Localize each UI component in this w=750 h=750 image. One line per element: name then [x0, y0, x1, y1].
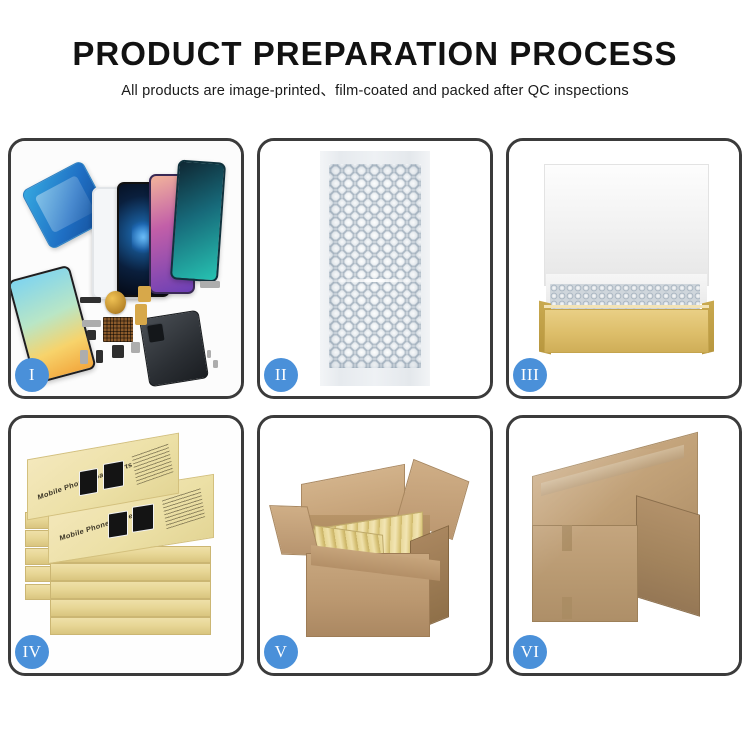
- sealed-carton-illustration: [509, 418, 739, 673]
- step-badge-3: III: [513, 358, 547, 392]
- process-step-panel-2: II: [257, 138, 493, 399]
- bracket-part-icon: [82, 320, 100, 328]
- flex-cable-part-icon: [138, 286, 152, 301]
- stacked-box-side-icon: [50, 563, 211, 581]
- step-badge-5: V: [264, 635, 298, 669]
- step-badge-2: II: [264, 358, 298, 392]
- process-step-panel-6: VI: [506, 415, 742, 676]
- process-step-panel-3: III: [506, 138, 742, 399]
- bubble-wrap-illustration: [260, 141, 490, 396]
- screw-part-icon: [131, 342, 140, 352]
- speaker-part-icon: [80, 297, 101, 303]
- carton-side-panel-icon: [636, 495, 700, 617]
- carton-front-panel-icon: [532, 525, 638, 622]
- camera-part-icon: [87, 330, 96, 340]
- box-open-lid-icon: [544, 164, 710, 286]
- wireless-coil-part-icon: [105, 291, 126, 314]
- carton-tape-tab-icon: [562, 597, 572, 620]
- inner-box-illustration: [509, 141, 739, 396]
- process-step-grid: I II III: [8, 138, 742, 676]
- process-step-panel-4: Mobile Phone Spare Parts Mobile Phone Sp…: [8, 415, 244, 676]
- process-step-panel-1: I: [8, 138, 244, 399]
- screw-part-icon: [213, 360, 218, 368]
- process-step-panel-5: V: [257, 415, 493, 676]
- step-badge-4: IV: [15, 635, 49, 669]
- box-stack: Mobile Phone Spare Parts Mobile Phone Sp…: [11, 418, 241, 673]
- stacked-box-side-icon: [50, 581, 211, 599]
- product-preparation-infographic: PRODUCT PREPARATION PROCESS All products…: [0, 0, 750, 750]
- page-subtitle: All products are image-printed、film-coat…: [0, 81, 750, 101]
- film-seam-icon: [324, 279, 425, 282]
- bubble-pattern-overlay-icon: [329, 164, 421, 368]
- box-artwork-screen-icon: [132, 503, 153, 532]
- step-badge-6: VI: [513, 635, 547, 669]
- phone-back-housing-icon: [139, 310, 209, 387]
- phone-parts-illustration: [11, 141, 241, 396]
- stacked-box-side-icon: [50, 617, 211, 635]
- box-artwork-screen-icon: [79, 468, 98, 496]
- box-spec-text-lines-icon: [132, 443, 174, 484]
- metal-shield-part-icon: [200, 281, 221, 287]
- page-title: PRODUCT PREPARATION PROCESS: [0, 34, 750, 74]
- step-badge-1: I: [15, 358, 49, 392]
- flex-cable-part-icon: [135, 304, 147, 324]
- button-part-icon: [112, 345, 124, 358]
- header: PRODUCT PREPARATION PROCESS All products…: [0, 0, 750, 101]
- phone-teal-screen-icon: [170, 160, 227, 283]
- stacked-box-side-icon: [50, 599, 211, 617]
- carton-tape-tab-icon: [562, 525, 572, 551]
- stacked-boxes-illustration: Mobile Phone Spare Parts Mobile Phone Sp…: [11, 418, 241, 673]
- box-top-rim-icon: [544, 305, 710, 308]
- box-artwork-screen-icon: [103, 461, 124, 491]
- sim-tray-part-icon: [80, 350, 88, 364]
- screw-part-icon: [207, 350, 212, 358]
- open-carton-illustration: [260, 418, 490, 673]
- box-front-panel-icon: [544, 309, 710, 352]
- box-artwork-screen-icon: [108, 511, 128, 539]
- chip-grid-part-icon: [103, 317, 133, 343]
- small-connector-icon: [96, 350, 103, 363]
